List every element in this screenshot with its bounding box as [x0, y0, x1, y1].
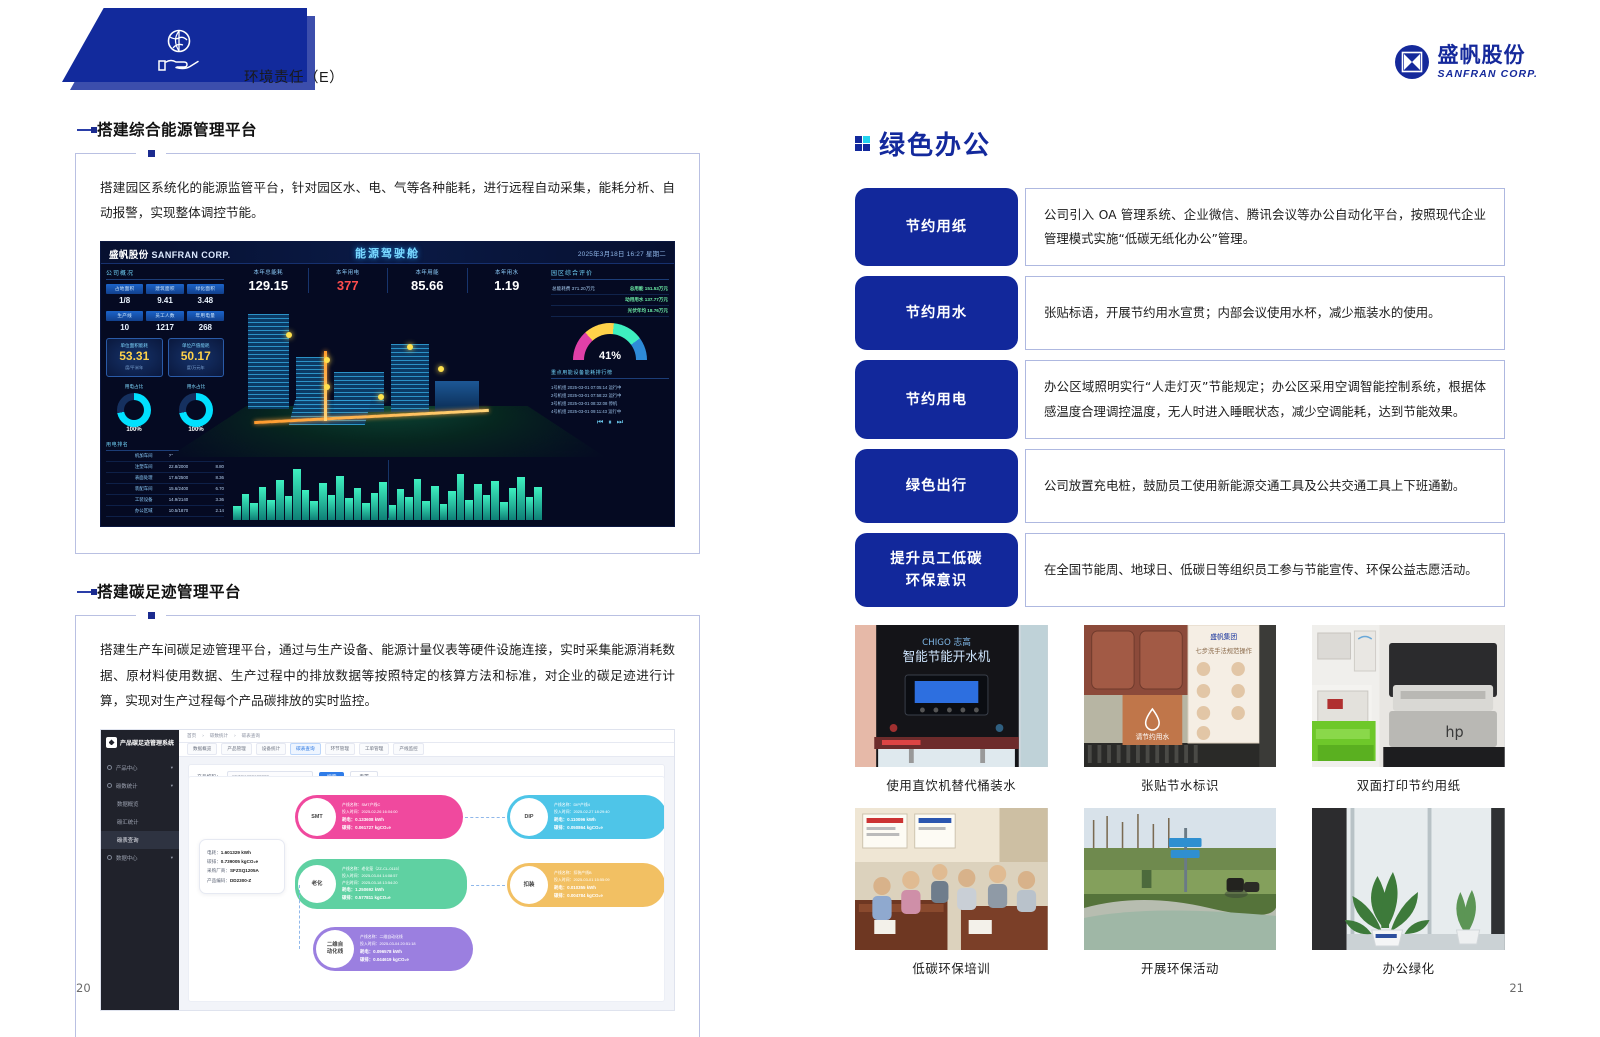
- kpi-chip-row-1: 占地面积 建筑面积 绿化面积: [106, 284, 224, 294]
- summary-line: 电耗：1.601329 kWh: [207, 848, 277, 857]
- left-panel-heading: 公司概况: [106, 268, 224, 280]
- breadcrumb-sep: ›: [202, 733, 204, 738]
- sidebar-item-sink-stats[interactable]: 碳汇统计: [101, 813, 179, 831]
- tab-label: 环节管理: [331, 746, 349, 752]
- page-number-left: 20: [76, 981, 91, 995]
- measure-description: 公司放置充电桩，鼓励员工使用新能源交通工具及公共交通工具上下班通勤。: [1025, 449, 1505, 523]
- photo-cell: 盛帆集团 七步洗手法规范操作 请节约用水 张贴: [1084, 625, 1277, 794]
- scene-building: [248, 314, 289, 409]
- measure-label: 节约用纸: [855, 188, 1018, 266]
- measure-row-travel: 绿色出行 公司放置充电桩，鼓励员工使用新能源交通工具及公共交通工具上下班通勤。: [855, 449, 1505, 523]
- kpi-chip: 年用电量: [187, 311, 224, 321]
- top-stat-label: 本年用能: [388, 268, 467, 276]
- top-stat: 本年总能耗 129.15: [229, 268, 308, 293]
- photo-cell: hp 双面打印节约用纸: [1312, 625, 1505, 794]
- tab-device-stats[interactable]: 设备统计: [256, 743, 286, 755]
- carbon-footprint-app: 产品碳足迹管理系统 产品中心 ▾ 碳数统计 ▾: [100, 729, 675, 1011]
- flow-arrow: [471, 885, 505, 886]
- flow-emission: 碳排：0.577811 kgCO₂e: [342, 895, 391, 900]
- tab-line-monitor[interactable]: 产线监控: [393, 743, 423, 755]
- cost-row: 总能耗费 371.20万元 总用能 151.53万元: [551, 284, 669, 295]
- sidebar-item-data-center[interactable]: 数据中心 ▾: [101, 849, 179, 867]
- photo-caption: 低碳环保培训: [912, 959, 990, 977]
- measure-description: 办公区域照明实行“人走灯灭”节能规定；办公区采用空调智能控制系统，根据体感温度合…: [1025, 360, 1505, 438]
- flow-emission: 碳排：0.004784 kgCO₂e: [554, 893, 603, 898]
- sidebar-item-label: 碳数统计: [116, 782, 138, 790]
- flow-line: 产线名称：老化笼（ZZ-CL-0115）: [342, 866, 402, 873]
- donut-ring-icon: [117, 393, 151, 427]
- gauge-value: 41%: [573, 350, 647, 362]
- flow-line: 碳排：0.050864 kgCO₂e: [554, 824, 610, 832]
- svg-text:七步洗手法规范操作: 七步洗手法规范操作: [1195, 646, 1252, 655]
- top-stat-label: 本年用水: [468, 268, 547, 276]
- big-kpi-value: 53.31: [107, 349, 162, 365]
- big-kpi-value: 50.17: [169, 349, 224, 365]
- brand-name-en: SANFRAN CORP.: [1438, 69, 1538, 80]
- energy-bar-chart: [233, 462, 542, 520]
- flow-line: 投入时间：2025-03-04 20:51:18: [360, 941, 416, 948]
- big-kpi-card: 单位面积能耗 53.31 度/平米年: [106, 338, 163, 377]
- tab-process-mgmt[interactable]: 环节管理: [325, 743, 355, 755]
- measure-description: 公司引入 OA 管理系统、企业微信、腾讯会议等办公自动化平台，按照现代企业管理模…: [1025, 188, 1505, 266]
- tab-product-mgmt[interactable]: 产品管理: [221, 743, 251, 755]
- breadcrumb-item[interactable]: 首页: [187, 733, 196, 739]
- cell-name: 装配车间: [106, 486, 152, 492]
- product-summary-card: 电耗：1.601329 kWh 碳排：0.739005 kgCO₂e 采购厂商：…: [199, 839, 285, 894]
- flow-energy: 耗电：1.250692 kWh: [342, 887, 384, 892]
- kpi-chip: 建筑面积: [146, 284, 183, 294]
- evaluation-gauge: 41%: [573, 323, 647, 363]
- summary-key: 产品编码：: [207, 878, 230, 883]
- photo-cell: 开展环保活动: [1084, 808, 1277, 977]
- top-stat-value: 377: [309, 278, 388, 293]
- chevron-down-icon: ▾: [171, 783, 173, 789]
- flow-emission: 碳排：0.061727 kgCO₂e: [342, 825, 391, 830]
- big-kpi-unit: 度/万元年: [169, 365, 224, 371]
- photo-gallery: CHIGO 志高 智能节能开水机: [855, 625, 1505, 977]
- chevron-down-icon: ▾: [171, 855, 173, 861]
- equipment-note: 2号机组 2025-03-01 07:58:22 运行中: [551, 392, 669, 400]
- cell-name: 办公区域: [106, 508, 152, 514]
- flow-emission: 碳排：0.044619 kgCO₂e: [360, 957, 409, 962]
- table-row: 注塑车间 22.8/2000 8.80: [106, 462, 224, 473]
- flow-line: 碳排：0.061727 kgCO₂e: [342, 824, 398, 832]
- dashboard-right-panel: 园区综合评价 总能耗费 371.20万元 总用能 151.53万元 动用用水 1…: [551, 268, 669, 427]
- equipment-ranking-table: 重点用能设备能耗排行榜: [551, 369, 669, 379]
- circle-icon: [107, 855, 112, 860]
- chevron-down-icon: ▾: [171, 765, 173, 771]
- tab-data-overview[interactable]: 数据概览: [187, 743, 217, 755]
- top-stat-value: 129.15: [229, 278, 308, 293]
- donut-percent: 100%: [106, 427, 162, 433]
- flow-line: 产线名称：DIP产线4: [554, 802, 610, 809]
- flow-node-dip[interactable]: DIP 产线名称：DIP产线4 投入时间：2025-02-27 18:29:40…: [507, 795, 665, 839]
- cost-value: 光伏年均 18.76万元: [628, 308, 668, 314]
- scene-node-icon: [286, 332, 292, 338]
- big-kpi-unit: 度/平米年: [107, 365, 162, 371]
- equipment-note: 1号机组 2025-03-01 07:05:14 运行中: [551, 384, 669, 392]
- header-tab-label: 环境责任（E）: [244, 66, 344, 87]
- top-stat: 本年用水 1.19: [467, 268, 547, 293]
- kpi-value: 9.41: [146, 296, 183, 305]
- dashboard-left-panel: 公司概况 占地面积 建筑面积 绿化面积 1/8 9.41 3.48 生产线: [106, 268, 224, 517]
- measure-label: 节约用水: [855, 276, 1018, 350]
- cell-value: 8.36: [188, 475, 224, 481]
- next-icon[interactable]: ⏭: [617, 419, 623, 427]
- measure-row-paper: 节约用纸 公司引入 OA 管理系统、企业微信、腾讯会议等办公自动化平台，按照现代…: [855, 188, 1505, 266]
- kpi-value: 1/8: [106, 296, 143, 305]
- playback-controls[interactable]: ⏮ ⏸ ⏭: [551, 419, 669, 427]
- sidebar-item-carbon-stats[interactable]: 碳数统计 ▾: [101, 777, 179, 795]
- sidebar-menu: 产品中心 ▾ 碳数统计 ▾ 数据概览: [101, 759, 179, 867]
- flow-energy: 耗电：0.096578 kWh: [360, 949, 402, 954]
- flow-node-smt[interactable]: SMT 产线名称：SMT产线C 投入时间：2025-02-26 16:04:00…: [295, 795, 463, 839]
- flow-line: 碳排：0.004784 kgCO₂e: [554, 892, 610, 900]
- tab-label: 产线监控: [399, 746, 417, 752]
- cost-key: 总能耗费 371.20万元: [552, 286, 595, 292]
- kpi-value: 3.48: [187, 296, 224, 305]
- four-square-grid-icon: [855, 136, 870, 151]
- photo-cell: CHIGO 志高 智能节能开水机: [855, 625, 1048, 794]
- bullet-tick-icon: [77, 591, 93, 593]
- flow-node-info: 产线名称：老化笼（ZZ-CL-0115） 投入时间：2025-03-04 14:…: [336, 866, 408, 902]
- page-number-right: 21: [1509, 981, 1524, 995]
- app-logo-icon: [106, 737, 117, 748]
- section-title: 搭建综合能源管理平台: [97, 121, 257, 139]
- kpi-value: 268: [187, 323, 224, 332]
- flow-node-assembly[interactable]: 扣装 产线名称：扣装产线B 投入时间：2025-03-01 15:55:09 耗…: [507, 863, 665, 907]
- dashboard-logo: 盛帆股份 SANFRAN CORP.: [109, 247, 231, 261]
- page-title-text: 绿色办公: [879, 125, 991, 162]
- kpi-chip-row-2: 生产线 员工人数 年用电量: [106, 311, 224, 321]
- flow-line: 耗电：0.096578 kWh: [360, 948, 416, 956]
- flow-node-badge: 扣装: [510, 866, 548, 904]
- cell-name: 工装设备: [106, 497, 152, 503]
- flow-emission: 碳排：0.050864 kgCO₂e: [554, 825, 603, 830]
- cost-rows: 总能耗费 371.20万元 总用能 151.53万元 动用用水 137.77万元…: [551, 284, 669, 317]
- section-box-carbon: 搭建生产车间碳足迹管理平台，通过与生产设备、能源计量仪表等硬件设施连接，实时采集…: [75, 615, 700, 1037]
- flow-node-info: 产线名称：二维自动化线 投入时间：2025-03-04 20:51:18 耗电：…: [354, 934, 422, 963]
- summary-line: 采购厂商：SFZSQ1205A: [207, 866, 277, 875]
- sidebar-item-label: 数据中心: [116, 854, 138, 862]
- sidebar-item-data-overview[interactable]: 数据概览: [101, 795, 179, 813]
- sidebar-item-label: 碳表查询: [117, 836, 139, 844]
- flow-line: 产线名称：SMT产线C: [342, 802, 398, 809]
- cell-usage: 15.6/2400: [152, 486, 188, 492]
- energy-dashboard-screenshot: 盛帆股份 SANFRAN CORP. 能源驾驶舱 2025年3月18日 16:2…: [76, 235, 699, 553]
- campus-3d-scene: [229, 304, 546, 458]
- tab-label: 产品管理: [227, 746, 245, 752]
- cell-usage: 22.8/2000: [152, 464, 188, 470]
- photo-office-plants: [1312, 808, 1505, 950]
- kpi-value-row-2: 10 1217 268: [106, 323, 224, 332]
- flow-node-badge: DIP: [510, 798, 548, 836]
- top-stat-value: 1.19: [468, 278, 547, 293]
- measure-row-awareness: 提升员工低碳 环保意识 在全国节能周、地球日、低碳日等组织员工参与节能宣传、环保…: [855, 533, 1505, 607]
- cell-value: 6.70: [188, 486, 224, 492]
- header-tab: 环境责任（E）: [62, 8, 362, 90]
- sidebar-item-carbon-query[interactable]: 碳表查询: [101, 831, 179, 849]
- photo-water-dispenser: CHIGO 志高 智能节能开水机: [855, 625, 1048, 767]
- summary-value: 0.739005 kgCO₂e: [221, 859, 258, 864]
- flow-canvas: 电耗：1.601329 kWh 碳排：0.739005 kgCO₂e 采购厂商：…: [188, 776, 665, 1002]
- flow-node-badge: 二维自 动化线: [316, 930, 354, 968]
- circle-icon: [107, 783, 112, 788]
- breadcrumb-item[interactable]: 碳表查询: [242, 733, 260, 739]
- sanfran-mark-icon: [1394, 44, 1430, 80]
- cost-row: 动用用水 137.77万元: [551, 295, 669, 306]
- photo-caption: 双面打印节约用纸: [1357, 776, 1461, 794]
- section-dot-icon: [148, 612, 155, 619]
- sidebar-item-products[interactable]: 产品中心 ▾: [101, 759, 179, 777]
- circle-icon: [107, 765, 112, 770]
- summary-key: 电耗：: [207, 850, 221, 855]
- page-title: 绿色办公: [855, 125, 1505, 162]
- scene-building: [391, 344, 429, 412]
- flow-node-aging[interactable]: 老化 产线名称：老化笼（ZZ-CL-0115） 投入时间：2025-03-04 …: [295, 859, 467, 909]
- cell-usage: 14.9/2140: [152, 497, 188, 503]
- table-row: 装配车间 15.6/2400 6.70: [106, 484, 224, 495]
- photo-cell: 低碳环保培训: [855, 808, 1048, 977]
- equipment-note-list: 1号机组 2025-03-01 07:05:14 运行中 2号机组 2025-0…: [551, 384, 669, 415]
- donut-chart-row: 用电占比 100% 用水占比 100%: [106, 384, 224, 433]
- flow-line: 投入时间：2025-02-26 16:04:00: [342, 809, 398, 816]
- play-icon[interactable]: ⏸: [608, 419, 612, 427]
- svg-text:智能节能开水机: 智能节能开水机: [903, 650, 991, 665]
- summary-value: SFZSQ1205A: [230, 868, 259, 873]
- cell-value: 2.14: [188, 508, 224, 514]
- scene-building: [435, 381, 479, 412]
- tab-label: 数据概览: [193, 746, 211, 752]
- summary-key: 碳排：: [207, 859, 221, 864]
- section-body-text: 搭建园区系统化的能源监管平台，针对园区水、电、气等各种能耗，进行远程自动采集，能…: [76, 153, 699, 235]
- breadcrumb-sep: ›: [234, 733, 236, 738]
- carbon-system-screenshot: 产品碳足迹管理系统 产品中心 ▾ 碳数统计 ▾: [76, 723, 699, 1037]
- flow-line: 耗电：0.010355 kWh: [554, 884, 610, 892]
- big-kpi-card: 单位产值能耗 50.17 度/万元年: [168, 338, 225, 377]
- flow-line: 耗电：1.250692 kWh: [342, 886, 402, 894]
- flow-energy: 耗电：0.133608 kWh: [342, 817, 384, 822]
- page-root: 环境责任（E） 盛帆股份 SANFRAN CORP. 搭建综合能源管理平台 搭建…: [0, 0, 1600, 1037]
- kpi-chip: 绿化面积: [187, 284, 224, 294]
- right-panel-heading: 园区综合评价: [551, 268, 669, 280]
- kpi-chip: 生产线: [106, 311, 143, 321]
- photo-cell: 办公绿化: [1312, 808, 1505, 977]
- tab-work-order[interactable]: 工单管理: [359, 743, 389, 755]
- flow-line: 碳排：0.577811 kgCO₂e: [342, 894, 402, 902]
- dashboard-title: 能源驾驶舱: [355, 245, 420, 261]
- measure-description: 在全国节能周、地球日、低碳日等组织员工参与节能宣传、环保公益志愿活动。: [1025, 533, 1505, 607]
- app-main: 首页 › 碳数统计 › 碳表查询 数据概览 产品管理 设备统计 碳表查询 环节管…: [179, 730, 674, 1010]
- photo-caption: 张贴节水标识: [1141, 776, 1219, 794]
- table-row: 工装设备 14.9/2140 3.36: [106, 495, 224, 506]
- svg-text:CHIGO 志高: CHIGO 志高: [922, 636, 971, 648]
- flow-energy: 耗电：0.010355 kWh: [554, 885, 596, 890]
- photo-caption: 开展环保活动: [1141, 959, 1219, 977]
- flow-line: 碳排：0.044619 kgCO₂e: [360, 956, 416, 964]
- photo-caption: 使用直饮机替代桶装水: [886, 776, 1016, 794]
- flow-line: 产线名称：扣装产线B: [554, 870, 610, 877]
- svg-text:盛帆集团: 盛帆集团: [1210, 632, 1237, 641]
- photo-water-sign: 盛帆集团 七步洗手法规范操作 请节约用水: [1084, 625, 1277, 767]
- photo-training-room: [855, 808, 1048, 950]
- summary-key: 采购厂商：: [207, 868, 230, 873]
- photo-outdoor-activity: [1084, 808, 1277, 950]
- dashboard-timestamp: 2025年3月18日 16:27 星期二: [578, 248, 666, 258]
- donut-label: 用电占比: [106, 384, 162, 390]
- top-stat: 本年用电 377: [308, 268, 388, 293]
- cell-usage: 17.6/2500: [152, 475, 188, 481]
- flow-node-info: 产线名称：DIP产线4 投入时间：2025-02-27 18:29:40 耗电：…: [548, 802, 616, 831]
- kpi-value: 10: [106, 323, 143, 332]
- app-sidebar: 产品碳足迹管理系统 产品中心 ▾ 碳数统计 ▾: [101, 730, 179, 1010]
- tab-label: 设备统计: [262, 746, 280, 752]
- flow-arrow: [465, 817, 505, 818]
- cell-name: 机加车间: [106, 453, 152, 459]
- flow-line: 投入时间：2025-03-04 14:08:57: [342, 873, 402, 880]
- scene-node-icon: [378, 394, 384, 400]
- production-flow-diagram: SMT 产线名称：SMT产线C 投入时间：2025-02-26 16:04:00…: [289, 781, 660, 997]
- kpi-value: 1217: [146, 323, 183, 332]
- dashboard-logo-cn: 盛帆股份: [109, 250, 149, 261]
- cell-name: 注塑车间: [106, 464, 152, 470]
- measure-row-electricity: 节约用电 办公区域照明实行“人走灯灭”节能规定；办公区采用空调智能控制系统，根据…: [855, 360, 1505, 438]
- tab-carbon-query[interactable]: 碳表查询: [290, 743, 320, 755]
- scene-node-icon: [324, 384, 330, 390]
- cell-usage: 10.5/1870: [152, 508, 188, 514]
- top-stat: 本年用能 85.66: [387, 268, 467, 293]
- flow-node-automation[interactable]: 二维自 动化线 产线名称：二维自动化线 投入时间：2025-03-04 20:5…: [313, 927, 473, 971]
- top-stat-row: 本年总能耗 129.15 本年用电 377 本年用能 85.66: [229, 268, 546, 293]
- section-body-text: 搭建生产车间碳足迹管理平台，通过与生产设备、能源计量仪表等硬件设施连接，实时采集…: [76, 615, 699, 723]
- flow-line: 耗电：0.133608 kWh: [342, 816, 398, 824]
- donut-ring-icon: [179, 393, 213, 427]
- table-row: 表面处理 17.6/2500 8.36: [106, 473, 224, 484]
- top-stat-label: 本年用电: [309, 268, 388, 276]
- left-page-column: 搭建综合能源管理平台 搭建园区系统化的能源监管平台，针对园区水、电、气等各种能耗…: [75, 118, 700, 1037]
- top-stat-value: 85.66: [388, 278, 467, 293]
- equipment-note: 3号机组 2025-03-01 08:32:08 停机: [551, 400, 669, 408]
- measure-row-water: 节约用水 张贴标语，开展节约用水宣贯；内部会议使用水杯，减少瓶装水的使用。: [855, 276, 1505, 350]
- table-row: 办公区域 10.5/1870 2.14: [106, 506, 224, 517]
- flow-node-badge: 老化: [298, 865, 336, 903]
- flow-node-info: 产线名称：扣装产线B 投入时间：2025-03-01 15:55:09 耗电：0…: [548, 870, 616, 899]
- measure-label: 提升员工低碳 环保意识: [855, 533, 1018, 607]
- scene-node-icon: [324, 357, 330, 363]
- sidebar-item-label: 碳汇统计: [117, 818, 139, 826]
- kpi-value-row-1: 1/8 9.41 3.48: [106, 296, 224, 305]
- kpi-chip: 占地面积: [106, 284, 143, 294]
- top-stat-label: 本年总能耗: [229, 268, 308, 276]
- breadcrumb-item[interactable]: 碳数统计: [210, 733, 228, 739]
- cost-row: 光伏年均 18.76万元: [551, 306, 669, 317]
- measure-label: 绿色出行: [855, 449, 1018, 523]
- brand-logo: 盛帆股份 SANFRAN CORP.: [1394, 44, 1538, 80]
- energy-dashboard: 盛帆股份 SANFRAN CORP. 能源驾驶舱 2025年3月18日 16:2…: [100, 241, 675, 527]
- bullet-tick-icon: [77, 129, 93, 131]
- breadcrumb: 首页 › 碳数统计 › 碳表查询: [179, 730, 674, 743]
- flow-line: 投入时间：2025-02-27 18:29:40: [554, 809, 610, 816]
- app-title: 产品碳足迹管理系统: [120, 738, 174, 747]
- tab-bar: 数据概览 产品管理 设备统计 碳表查询 环节管理 工单管理 产线监控: [179, 743, 674, 757]
- section-header-carbon: 搭建碳足迹管理平台: [75, 580, 700, 606]
- summary-line: 产品编码：DD2300-Z: [207, 876, 277, 885]
- cost-value: 总用能 151.53万元: [630, 286, 668, 292]
- summary-value: DD2300-Z: [230, 878, 251, 883]
- app-brand: 产品碳足迹管理系统: [101, 730, 179, 755]
- scene-node-icon: [407, 344, 413, 350]
- section-header-energy: 搭建综合能源管理平台: [75, 118, 700, 144]
- right-page-column: 绿色办公 节约用纸 公司引入 OA 管理系统、企业微信、腾讯会议等办公自动化平台…: [855, 125, 1505, 977]
- cell-value: 3.36: [188, 497, 224, 503]
- cost-value: 动用用水 137.77万元: [625, 297, 668, 303]
- sidebar-item-label: 产品中心: [116, 764, 138, 772]
- section-box-energy: 搭建园区系统化的能源监管平台，针对园区水、电、气等各种能耗，进行远程自动采集，能…: [75, 153, 700, 554]
- flow-line: 投入时间：2025-03-01 15:55:09: [554, 877, 610, 884]
- equipment-table-heading: 重点用能设备能耗排行榜: [551, 369, 669, 379]
- flow-node-badge: SMT: [298, 798, 336, 836]
- dashboard-logo-en: SANFRAN CORP.: [152, 250, 231, 260]
- brand-name-cn: 盛帆股份: [1438, 45, 1538, 66]
- chart-separator: [388, 460, 389, 518]
- section-title: 搭建碳足迹管理平台: [97, 583, 241, 601]
- sidebar-item-label: 数据概览: [117, 800, 139, 808]
- donut-label: 用水占比: [168, 384, 224, 390]
- flow-line: 产出时间：2025-03-18 13:54:20: [342, 880, 402, 887]
- prev-icon[interactable]: ⏮: [597, 419, 603, 427]
- flow-line: 产线名称：二维自动化线: [360, 934, 416, 941]
- flow-arrow: [299, 885, 300, 949]
- big-kpi-cards: 单位面积能耗 53.31 度/平米年 单位产值能耗 50.17 度/万元年: [106, 338, 224, 377]
- tab-label: 碳表查询: [296, 746, 314, 752]
- flow-node-info: 产线名称：SMT产线C 投入时间：2025-02-26 16:04:00 耗电：…: [336, 802, 404, 831]
- svg-text:hp: hp: [1446, 724, 1464, 741]
- tab-label: 工单管理: [365, 746, 383, 752]
- scene-node-icon: [438, 366, 444, 372]
- equipment-note: 4号机组 2025-03-01 09:11:43 运行中: [551, 408, 669, 416]
- summary-value: 1.601329 kWh: [221, 850, 251, 855]
- flow-line: 耗电：0.110096 kWh: [554, 816, 610, 824]
- cell-value: 8.80: [188, 464, 224, 470]
- photo-printer: hp: [1312, 625, 1505, 767]
- dashboard-center-panel: 本年总能耗 129.15 本年用电 377 本年用能 85.66: [229, 268, 546, 522]
- measure-label: 节约用电: [855, 360, 1018, 438]
- donut-chart: 用电占比 100%: [106, 384, 162, 433]
- svg-text:请节约用水: 请节约用水: [1135, 732, 1169, 741]
- flow-energy: 耗电：0.110096 kWh: [554, 817, 596, 822]
- summary-line: 碳排：0.739005 kgCO₂e: [207, 857, 277, 866]
- cell-name: 表面处理: [106, 475, 152, 481]
- photo-caption: 办公绿化: [1383, 959, 1435, 977]
- kpi-chip: 员工人数: [146, 311, 183, 321]
- section-dot-icon: [148, 150, 155, 157]
- measure-description: 张贴标语，开展节约用水宣贯；内部会议使用水杯，减少瓶装水的使用。: [1025, 276, 1505, 350]
- hand-holding-globe-icon: [154, 28, 202, 74]
